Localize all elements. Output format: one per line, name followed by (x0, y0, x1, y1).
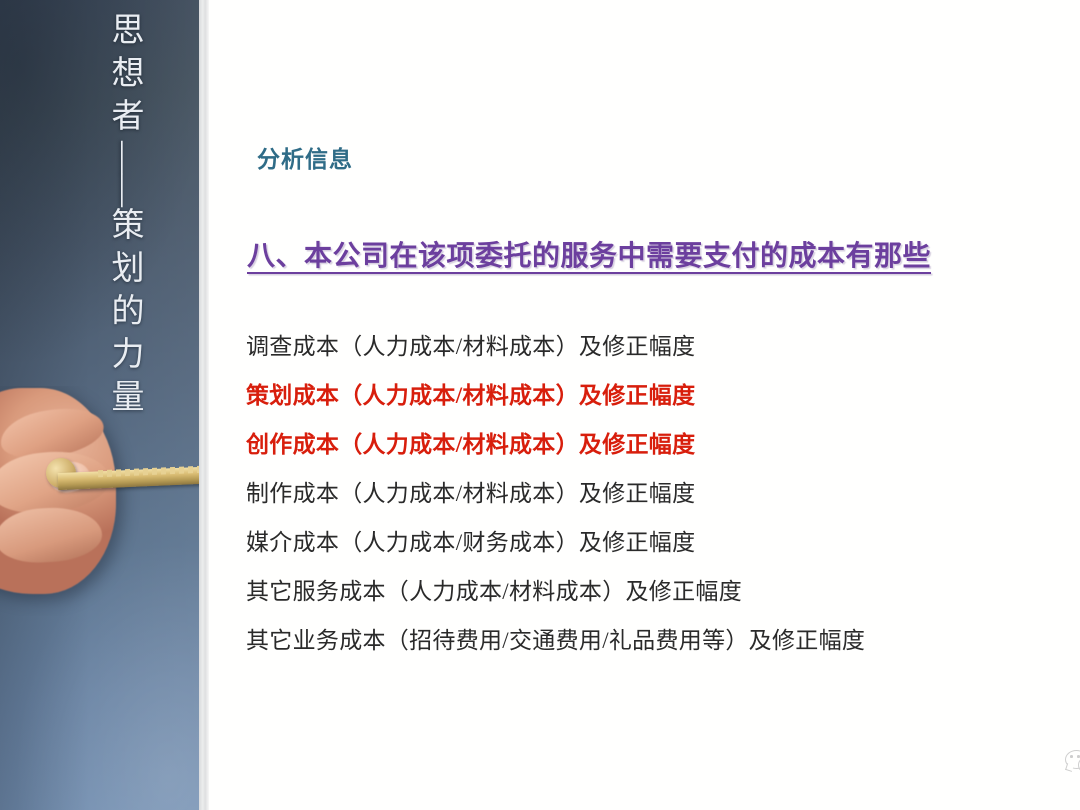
list-item: 调查成本（人力成本/材料成本）及修正幅度 (246, 322, 1046, 371)
list-item: 创作成本（人力成本/材料成本）及修正幅度 (246, 420, 1046, 469)
section-eyebrow-label: 分析信息 (257, 140, 353, 174)
page-title: 八、本公司在该项委托的服务中需要支付的成本有那些 (247, 234, 931, 274)
list-item: 其它服务成本（人力成本/材料成本）及修正幅度 (246, 567, 1046, 616)
vertical-title-dash: —— (106, 141, 142, 207)
hand-holding-key-photo (0, 386, 206, 616)
slide-canvas: 思想者——策划的力量 分析信息 八、本公司在该项委托的服务中需要支付的成本有那些… (0, 0, 1080, 810)
wechat-dot (1070, 755, 1073, 758)
sidebar-separator (199, 0, 209, 810)
wechat-icon (1065, 749, 1080, 777)
vertical-title: 思想者——策划的力量 (84, 12, 140, 432)
main-content-area: 分析信息 八、本公司在该项委托的服务中需要支付的成本有那些 调查成本（人力成本/… (209, 0, 1080, 810)
vertical-title-part-1: 思想者 (106, 12, 142, 141)
list-item: 其它业务成本（招待费用/交通费用/礼品费用等）及修正幅度 (246, 616, 1046, 665)
list-item: 制作成本（人力成本/材料成本）及修正幅度 (246, 469, 1046, 518)
wechat-bubble-tail (1065, 763, 1074, 772)
list-item: 策划成本（人力成本/材料成本）及修正幅度 (246, 371, 1046, 420)
wechat-dot (1077, 755, 1080, 758)
watermark: 地产人课堂 (1065, 748, 1080, 778)
cost-item-list: 调查成本（人力成本/材料成本）及修正幅度 策划成本（人力成本/材料成本）及修正幅… (246, 322, 1046, 665)
left-sidebar-panel: 思想者——策划的力量 (0, 0, 199, 810)
list-item: 媒介成本（人力成本/财务成本）及修正幅度 (246, 518, 1046, 567)
